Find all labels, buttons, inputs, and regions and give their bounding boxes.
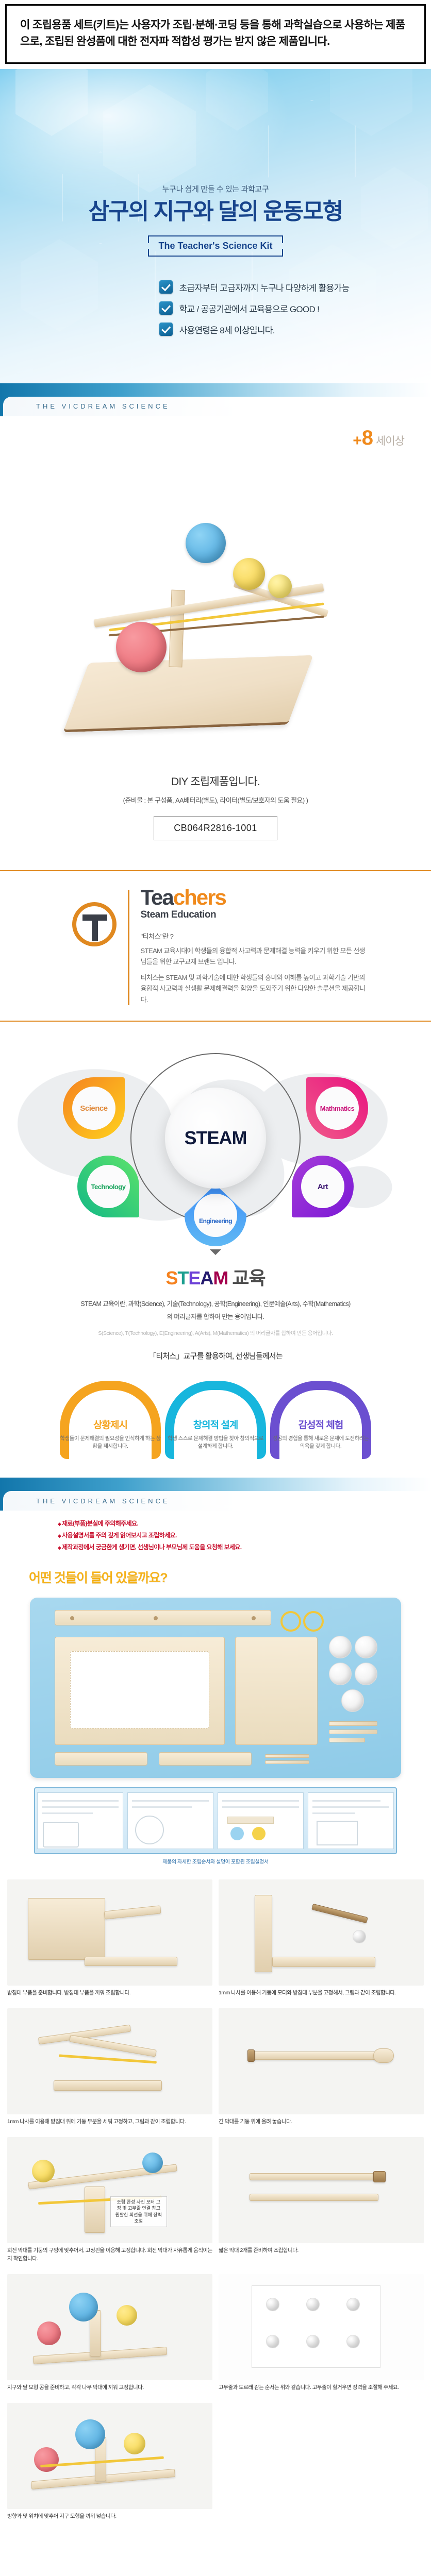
diy-line-2: (준비물 : 본 구성품, AA배터리(별도), 라이터(별도/보호자의 도움 … (0, 795, 431, 805)
step-image: 조립 완성 사진 모터 고정 및 고무줄 연결 참고 원활한 회전을 위해 장력… (7, 2137, 212, 2243)
assembly-step: 지구와 달 모형 공을 준비하고, 각각 나무 막대에 끼워 고정합니다. (4, 2270, 215, 2399)
part-ball (355, 1663, 377, 1685)
teachers-brand-block: Teachers Steam Education "티처스"란 ? STEAM … (0, 870, 431, 1022)
step-image (7, 2008, 212, 2114)
age-badge: +8세이상 (0, 416, 431, 450)
diy-line-1: DIY 조립제품입니다. (0, 773, 431, 789)
caution-item: 사용설명서를 주의 깊게 읽어보시고 조립하세요. (58, 1531, 431, 1539)
step-image (219, 2137, 424, 2243)
step-image (7, 2403, 212, 2509)
part-stick (329, 1730, 377, 1734)
teardrop-hole (194, 1194, 237, 1237)
list-item: 초급자부터 고급자까지 누구나 다양하게 활용가능 (159, 280, 350, 294)
assembly-step: 고무줄과 도르래 감는 순서는 위와 같습니다. 고무줄이 헐거우면 장력을 조… (215, 2270, 427, 2399)
product-small-ball (268, 574, 292, 598)
brand-strip-top: THE VICDREAM SCIENCE (0, 383, 431, 416)
teachers-paragraph-2: 티처스는 STEAM 및 과학기술에 대한 학생들의 흥미와 이해를 높이고 과… (141, 972, 368, 1005)
assembly-step: 짧은 막대 2개를 준비하여 조립합니다. (215, 2133, 427, 2269)
chevron-down-icon (210, 1249, 221, 1255)
assembly-step: 긴 막대를 기둥 위에 올려 놓습니다. (215, 2004, 427, 2133)
hero-bullet-label: 사용연령은 8세 이상입니다. (179, 323, 275, 336)
wheel-node-art: Art (292, 1156, 354, 1217)
product-code: CB064R2816-1001 (154, 816, 277, 840)
part-small-plank (55, 1752, 147, 1766)
step-caption: 1mm 나사를 이용해 기둥에 모터와 받침대 부분을 고정해서, 그림과 같이… (219, 1989, 424, 1997)
step-caption: 1mm 나사를 이용해 받침대 위에 기둥 부분을 세워 고정하고, 그림과 같… (7, 2118, 212, 2126)
steam-education-section: STEAM교육 STEAM 교육이란, 과학(Science), 기술(Tech… (0, 1255, 431, 1361)
pill-situation: 상황제시 학생들이 문제해결의 필요성을 인식하게 하는 상황을 제시합니다. (60, 1381, 161, 1459)
steam-description-2: 의 머리글자를 합하여 만든 용어입니다. (0, 1311, 431, 1321)
step-image (7, 2274, 212, 2380)
teachers-wordmark-dark: Tea (141, 885, 173, 909)
list-item: 학교 / 공공기관에서 교육용으로 GOOD ! (159, 301, 350, 315)
wheel-node-label: Mathmatics (320, 1105, 355, 1112)
check-icon (159, 301, 173, 315)
teachers-logo (64, 887, 125, 946)
manual-caption: 제품의 자세한 조립순서와 설명이 포함된 조립설명서 (0, 1854, 431, 1865)
steam-letter-e: E (188, 1267, 200, 1289)
steam-letter-m: M (213, 1267, 228, 1289)
step-caption: 받침대 부품을 준비합니다. 받침대 부품을 끼워 조립합니다. (7, 1989, 212, 1997)
product-hero-photo (0, 452, 431, 761)
assembly-step: 받침대 부품을 준비합니다. 받침대 부품을 끼워 조립합니다. (4, 1875, 215, 2004)
age-badge-number: 8 (362, 427, 373, 449)
regulatory-notice: 이 조립용품 세트(키트)는 사용자가 조립·분해·코딩 등을 통해 과학실습으… (5, 4, 426, 64)
wheel-node-label: Art (318, 1182, 328, 1191)
steam-letter-t: T (177, 1267, 188, 1289)
steam-letter-a: A (200, 1267, 213, 1289)
step-image (219, 2274, 424, 2380)
step-note: 조립 완성 사진 모터 고정 및 고무줄 연결 참고 원활한 회전을 위해 장력… (110, 2196, 167, 2227)
steam-letter-s: S (165, 1267, 177, 1289)
hero-banner: 누구나 쉽게 만들 수 있는 과학교구 삼구의 지구와 달의 운동모형 The … (0, 69, 431, 383)
teachers-question: "티처스"란 ? (141, 931, 368, 941)
teachers-subtitle: Steam Education (141, 909, 368, 921)
teachers-t-logo-icon (72, 902, 117, 946)
step-caption: 고무줄과 도르래 감는 순서는 위와 같습니다. 고무줄이 헐거우면 장력을 조… (219, 2384, 424, 2392)
assembly-step: 조립 완성 사진 모터 고정 및 고무줄 연결 참고 원활한 회전을 위해 장력… (4, 2133, 215, 2269)
product-base-board (63, 655, 313, 732)
product-sun-ball (186, 523, 226, 563)
teachers-paragraph-1: STEAM 교육시대에 학생들의 융합적 사고력과 문제해결 능력을 키우기 위… (141, 945, 368, 968)
list-item: 사용연령은 8세 이상입니다. (159, 323, 350, 336)
part-side-board (235, 1637, 318, 1745)
hero-feature-list: 초급자부터 고급자까지 누구나 다양하게 활용가능 학교 / 공공기관에서 교육… (159, 280, 350, 344)
wheel-center-label: STEAM (185, 1127, 247, 1149)
pill-description: 학생 스스로 문제해결 방법을 찾아 창의적으로 설계하게 합니다. (165, 1435, 266, 1451)
hero-bullet-label: 초급자부터 고급자까지 누구나 다양하게 활용가능 (179, 281, 350, 294)
product-detail-page: 이 조립용품 세트(키트)는 사용자가 조립·분해·코딩 등을 통해 과학실습으… (0, 0, 431, 2540)
steam-description-4: 「티처스」교구를 활용하여, 선생님들께서는 (0, 1350, 431, 1361)
step-image (219, 2008, 424, 2114)
wheel-center: STEAM (165, 1088, 266, 1189)
part-ball (355, 1636, 377, 1658)
wheel-node-label: Engineering (199, 1217, 232, 1225)
instruction-manual-preview (34, 1787, 397, 1854)
part-pin (265, 1754, 309, 1758)
age-badge-plus: + (353, 432, 362, 449)
step-caption: 지구와 달 모형 공을 준비하고, 각각 나무 막대에 끼워 고정합니다. (7, 2384, 212, 2392)
caution-item: 재료(부품)분실에 주의해주세요. (58, 1519, 431, 1528)
hero-title: 삼구의 지구와 달의 운동모형 (0, 199, 431, 224)
part-inner-cut (70, 1651, 209, 1728)
hero-bullet-label: 학교 / 공공기관에서 교육용으로 GOOD ! (179, 302, 320, 315)
teachers-wordmark: Teachers (141, 887, 368, 908)
divider (128, 890, 129, 1005)
wheel-node-technology: Technology (77, 1156, 139, 1217)
brand-strip-tab: THE VICDREAM SCIENCE (3, 1491, 431, 1511)
assembly-steps-grid: 받침대 부품을 준비합니다. 받침대 부품을 끼워 조립합니다. 1mm 나사를… (0, 1875, 431, 2540)
brand-strip-label: THE VICDREAM SCIENCE (36, 1497, 170, 1505)
brand-strip-tab: THE VICDREAM SCIENCE (3, 397, 431, 416)
wheel-node-label: Technology (91, 1183, 126, 1191)
pill-description: 학생들이 문제해결의 필요성을 인식하게 하는 상황을 제시합니다. (60, 1435, 161, 1451)
pill-title: 창의적 설계 (193, 1417, 238, 1431)
brand-strip-bottom: THE VICDREAM SCIENCE (0, 1478, 431, 1511)
step-caption: 회전 막대를 기둥의 구멍에 맞추어서, 고정핀을 이용해 고정합니다. 회전 … (7, 2247, 212, 2262)
part-long-plank (55, 1610, 271, 1625)
contents-heading: 어떤 것들이 들어 있을까요? (0, 1554, 431, 1586)
teachers-text-block: Teachers Steam Education "티처스"란 ? STEAM … (141, 887, 368, 1005)
caution-item: 제작과정에서 궁금한게 생기면, 선생님이나 부모님께 도움을 요청해 보세요. (58, 1543, 431, 1551)
steam-education-heading: STEAM교육 (0, 1263, 431, 1290)
brand-strip-label: THE VICDREAM SCIENCE (36, 402, 170, 410)
manual-page (308, 1792, 394, 1849)
steam-description-1: STEAM 교육이란, 과학(Science), 기술(Technology),… (0, 1298, 431, 1308)
step-caption: 긴 막대를 기둥 위에 올려 놓습니다. (219, 2118, 424, 2126)
pill-title: 상황제시 (93, 1417, 127, 1431)
part-pin (265, 1760, 309, 1764)
part-ball (329, 1663, 352, 1685)
manual-page (127, 1792, 213, 1849)
wheel-node-mathmatics: Mathmatics (306, 1077, 368, 1139)
product-earth-ball (116, 622, 167, 672)
assembly-step: 1mm 나사를 이용해 기둥에 모터와 받침대 부분을 고정해서, 그림과 같이… (215, 1875, 427, 2004)
regulatory-notice-text: 이 조립용품 세트(키트)는 사용자가 조립·분해·코딩 등을 통해 과학실습으… (20, 17, 411, 50)
pill-creative-design: 창의적 설계 학생 스스로 문제해결 방법을 찾아 창의적으로 설계하게 합니다… (165, 1381, 266, 1459)
pill-emotional-experience: 감성적 체험 성공의 경험을 통해 새로운 문제에 도전하려는 의욕을 갖게 합… (270, 1381, 371, 1459)
step-caption: 방향과 및 위치에 맞추어 지구 모형을 끼워 넣습니다. (7, 2513, 212, 2520)
wheel-node-engineering: Engineering (185, 1184, 246, 1246)
part-ball (341, 1689, 364, 1712)
diy-info: DIY 조립제품입니다. (준비물 : 본 구성품, AA배터리(별도), 라이… (0, 761, 431, 840)
hero-kit-label: The Teacher's Science Kit (141, 235, 290, 257)
product-moon-ball (233, 558, 265, 590)
age-badge-suffix: 세이상 (376, 435, 404, 447)
pill-title: 감성적 체험 (299, 1417, 343, 1431)
step-image (219, 1879, 424, 1986)
teachers-wordmark-orange: chers (173, 885, 226, 909)
part-rubber-band (303, 1611, 324, 1632)
check-icon (159, 280, 173, 294)
assembly-step: 1mm 나사를 이용해 받침대 위에 기둥 부분을 세워 고정하고, 그림과 같… (4, 2004, 215, 2133)
wheel-node-label: Science (80, 1104, 107, 1113)
part-small-plank (159, 1752, 252, 1766)
steam-description-3: S(Science), T(Technology), E(Engineering… (0, 1329, 431, 1337)
manual-page (37, 1792, 123, 1849)
caution-list: 재료(부품)분실에 주의해주세요. 사용설명서를 주의 깊게 읽어보시고 조립하… (0, 1511, 431, 1551)
part-rubber-band (280, 1611, 301, 1632)
part-stick (329, 1738, 365, 1742)
part-stick (329, 1721, 377, 1726)
steam-process-pills: 상황제시 학생들이 문제해결의 필요성을 인식하게 하는 상황을 제시합니다. … (0, 1368, 431, 1471)
check-icon (159, 323, 173, 336)
step-image (7, 1879, 212, 1986)
step-caption: 짧은 막대 2개를 준비하여 조립합니다. (219, 2247, 424, 2255)
steam-heading-korean: 교육 (232, 1267, 265, 1289)
hero-subtitle: 누구나 쉽게 만들 수 있는 과학교구 (0, 183, 431, 194)
parts-tray (30, 1598, 401, 1778)
wheel-node-science: Science (63, 1077, 125, 1139)
steam-wheel-diagram: Science Mathmatics Technology Art Engine… (0, 1030, 431, 1246)
pill-description: 성공의 경험을 통해 새로운 문제에 도전하려는 의욕을 갖게 합니다. (270, 1435, 371, 1451)
part-ball (329, 1636, 352, 1658)
manual-page (218, 1792, 304, 1849)
assembly-step: 방향과 및 위치에 맞추어 지구 모형을 끼워 넣습니다. (4, 2399, 215, 2528)
